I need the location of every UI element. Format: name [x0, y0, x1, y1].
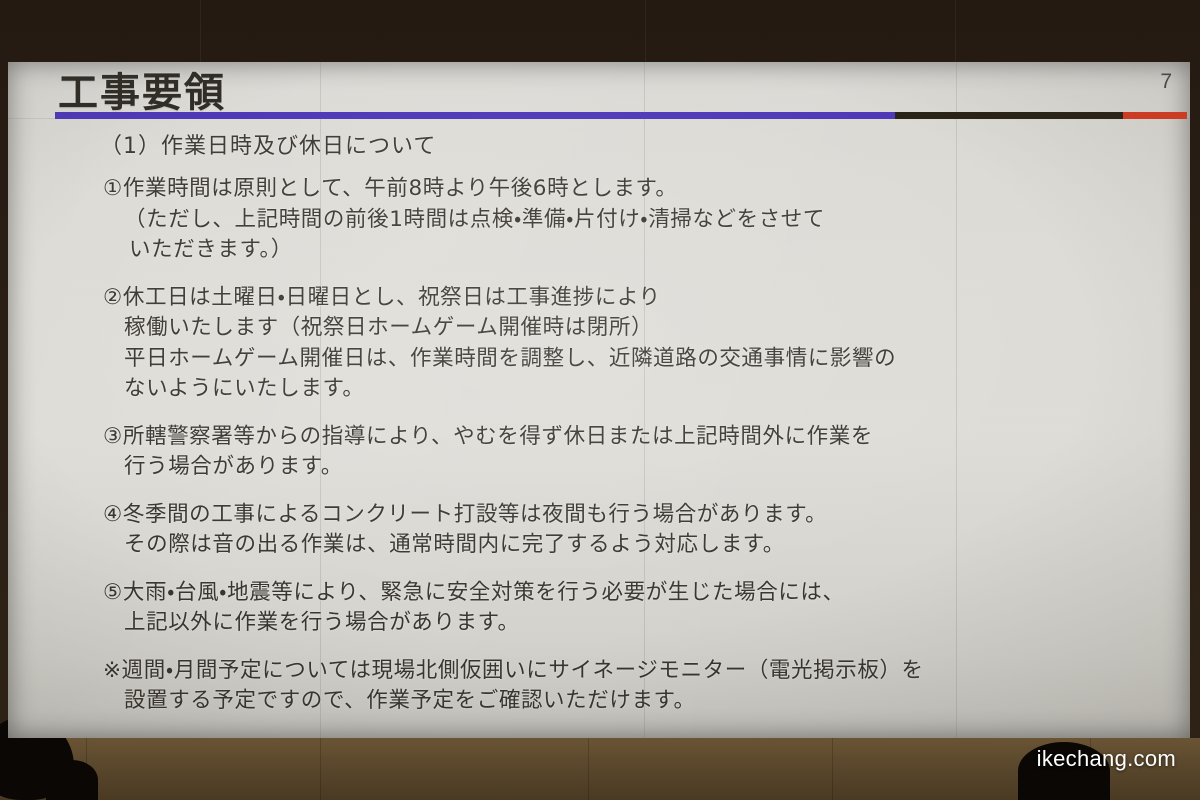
note-item: ※週間・月間予定については現場北側仮囲いにサイネージモニター（電光掲示板）を 設… — [103, 656, 1156, 717]
watermark: ikechang.com — [1037, 746, 1176, 772]
note-line: 設置する予定ですので、作業予定をご確認いただけます。 — [103, 686, 1156, 717]
list-item-line: ③所轄警察署等からの指導により、やむを得ず休日または上記時間外に作業を — [103, 422, 1156, 453]
note-line: ※週間・月間予定については現場北側仮囲いにサイネージモニター（電光掲示板）を — [103, 656, 1156, 687]
list-item-line: 上記以外に作業を行う場合があります。 — [103, 608, 1156, 639]
section-subtitle: （1）作業日時及び休日について — [100, 128, 436, 160]
list-item-line: 稼働いたします（祝祭日ホームゲーム開催時は閉所） — [103, 313, 1156, 344]
list-item-line: ①作業時間は原則として、午前8時より午後6時とします。 — [103, 174, 1156, 205]
list-item-line: 行う場合があります。 — [103, 452, 1156, 483]
room-background: 7 工事要領 （1）作業日時及び休日について ①作業時間は原則として、午前8時よ… — [0, 0, 1200, 800]
list-item-line: いただきます。） — [103, 235, 1156, 266]
slide-body: ①作業時間は原則として、午前8時より午後6時とします。 （ただし、上記時間の前後… — [103, 174, 1156, 734]
list-item: ⑤大雨・台風・地震等により、緊急に安全対策を行う必要が生じた場合には、 上記以外… — [103, 578, 1156, 639]
rule-segment-dark — [895, 112, 1123, 119]
list-item-line: その際は音の出る作業は、通常時間内に完了するよう対応します。 — [103, 530, 1156, 561]
page-number: 7 — [1160, 70, 1172, 94]
slide-content: 7 工事要領 （1）作業日時及び休日について ①作業時間は原則として、午前8時よ… — [8, 62, 1190, 738]
rule-segment-red — [1123, 112, 1187, 119]
list-item-line: ④冬季間の工事によるコンクリート打設等は夜間も行う場合があります。 — [103, 500, 1156, 531]
list-item-line: ないようにいたします。 — [103, 374, 1156, 405]
list-item: ④冬季間の工事によるコンクリート打設等は夜間も行う場合があります。 その際は音の… — [103, 500, 1156, 561]
list-item-line: ②休工日は土曜日・日曜日とし、祝祭日は工事進捗により — [103, 283, 1156, 314]
title-divider-rule — [55, 112, 1187, 119]
rule-segment-blue — [55, 112, 895, 119]
projected-slide: 7 工事要領 （1）作業日時及び休日について ①作業時間は原則として、午前8時よ… — [8, 62, 1190, 738]
list-item-line: （ただし、上記時間の前後1時間は点検・準備・片付け・清掃などをさせて — [103, 205, 1156, 236]
list-item-line: 平日ホームゲーム開催日は、作業時間を調整し、近隣道路の交通事情に影響の — [103, 344, 1156, 375]
wall-bottom-seam — [320, 738, 321, 800]
wall-bottom-seam — [588, 738, 589, 800]
list-item: ②休工日は土曜日・日曜日とし、祝祭日は工事進捗により 稼働いたします（祝祭日ホー… — [103, 283, 1156, 405]
list-item: ③所轄警察署等からの指導により、やむを得ず休日または上記時間外に作業を 行う場合… — [103, 422, 1156, 483]
audience-head-silhouette — [46, 760, 98, 800]
list-item-line: ⑤大雨・台風・地震等により、緊急に安全対策を行う必要が生じた場合には、 — [103, 578, 1156, 609]
list-item: ①作業時間は原則として、午前8時より午後6時とします。 （ただし、上記時間の前後… — [103, 174, 1156, 266]
page-title: 工事要領 — [58, 72, 226, 114]
wall-bottom-seam — [832, 738, 833, 800]
